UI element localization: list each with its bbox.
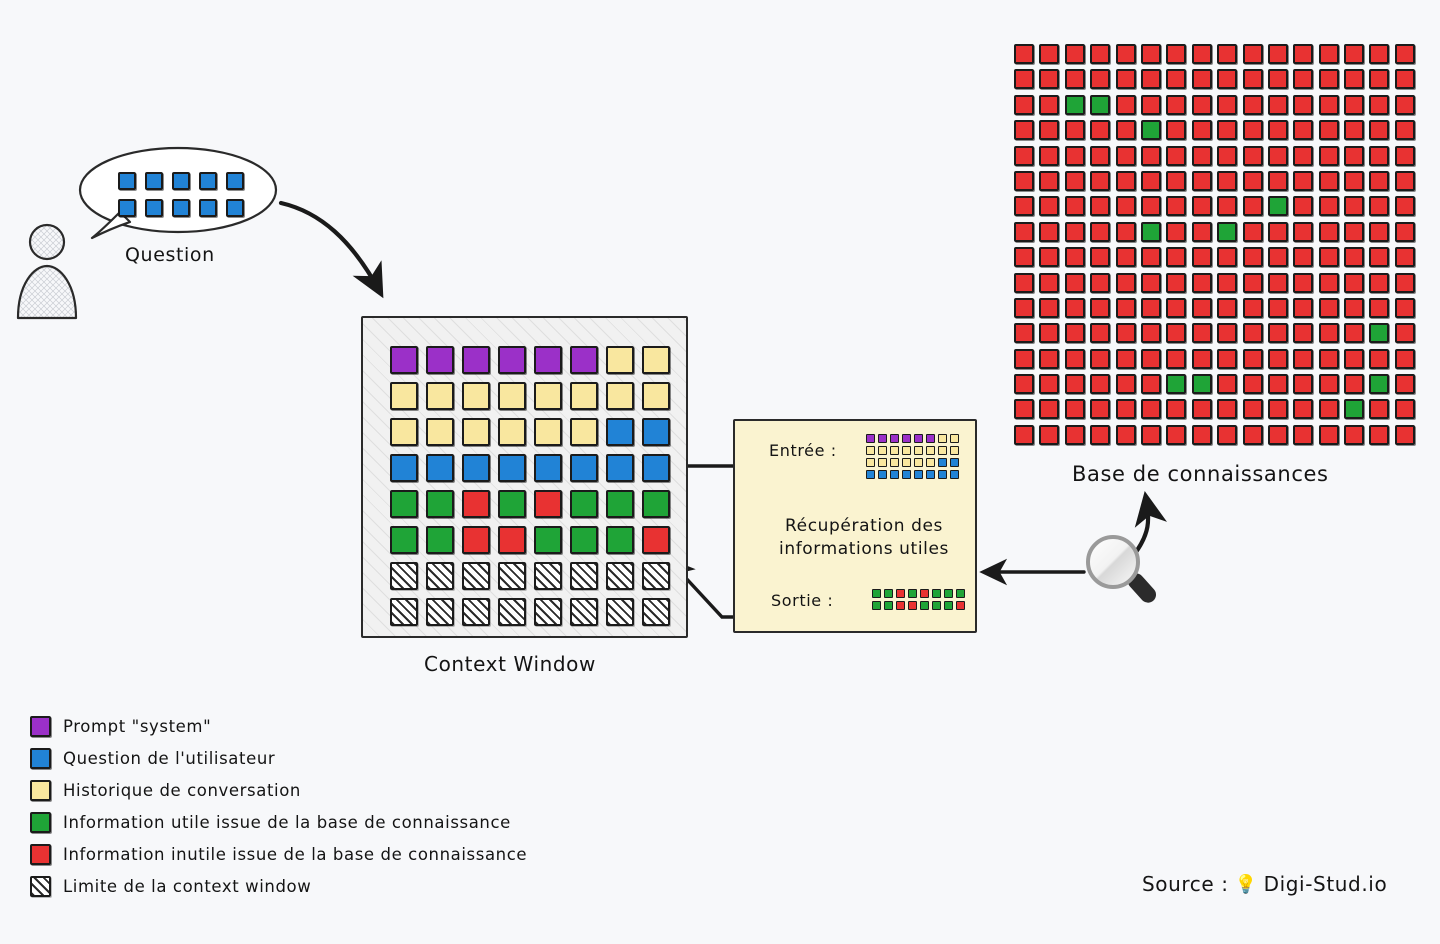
kb-cell-red [1166, 146, 1186, 166]
kb-cell-red [1166, 171, 1186, 191]
kb-cell-red [1369, 425, 1389, 445]
kb-cell-red [1243, 146, 1263, 166]
token-cell-purple [866, 434, 875, 443]
kb-cell-red [1014, 323, 1034, 343]
kb-cell-red [1014, 273, 1034, 293]
kb-cell-red [1293, 196, 1313, 216]
kb-cell-red [1293, 69, 1313, 89]
token-cell-green [932, 601, 941, 610]
token-cell-blue [199, 199, 217, 217]
kb-cell-red [1090, 171, 1110, 191]
kb-cell-red [1192, 69, 1212, 89]
token-cell-red [498, 526, 526, 554]
token-cell-blue [878, 470, 887, 479]
kb-cell-red [1369, 247, 1389, 267]
token-cell-green [426, 526, 454, 554]
legend-label: Limite de la context window [63, 877, 311, 896]
kb-cell-red [1268, 222, 1288, 242]
kb-cell-red [1116, 247, 1136, 267]
kb-cell-red [1243, 69, 1263, 89]
kb-cell-green [1141, 120, 1161, 140]
kb-cell-red [1166, 349, 1186, 369]
kb-cell-red [1369, 95, 1389, 115]
token-cell-blue [118, 172, 136, 190]
legend-label: Information utile issue de la base de co… [63, 813, 511, 832]
legend-swatch-yellow [30, 780, 51, 801]
kb-cell-red [1065, 120, 1085, 140]
token-cell-blue [534, 454, 562, 482]
token-cell-blue [938, 470, 947, 479]
kb-cell-red [1395, 196, 1415, 216]
token-cell-hatch [498, 598, 526, 626]
kb-cell-red [1319, 95, 1339, 115]
kb-cell-red [1014, 171, 1034, 191]
token-cell-hatch [642, 598, 670, 626]
kb-cell-red [1217, 273, 1237, 293]
context-window-box [361, 316, 688, 638]
kb-cell-red [1217, 95, 1237, 115]
token-cell-blue [172, 172, 190, 190]
kb-cell-red [1369, 298, 1389, 318]
token-cell-purple [914, 434, 923, 443]
source-name: Digi-Stud.io [1264, 872, 1388, 896]
kb-cell-red [1065, 298, 1085, 318]
kb-cell-red [1243, 247, 1263, 267]
kb-cell-red [1090, 196, 1110, 216]
legend-swatch-hatch [30, 876, 51, 897]
kb-cell-red [1014, 44, 1034, 64]
token-cell-yellow [950, 446, 959, 455]
token-cell-hatch [534, 562, 562, 590]
kb-cell-red [1116, 95, 1136, 115]
kb-cell-red [1192, 146, 1212, 166]
kb-cell-red [1141, 146, 1161, 166]
kb-cell-red [1268, 146, 1288, 166]
kb-cell-red [1217, 349, 1237, 369]
kb-cell-red [1395, 273, 1415, 293]
token-cell-hatch [426, 562, 454, 590]
kb-cell-red [1065, 273, 1085, 293]
token-cell-purple [878, 434, 887, 443]
kb-cell-red [1369, 399, 1389, 419]
kb-cell-red [1116, 171, 1136, 191]
kb-cell-red [1141, 273, 1161, 293]
kb-cell-red [1090, 425, 1110, 445]
token-cell-green [932, 589, 941, 598]
kb-cell-red [1116, 44, 1136, 64]
kb-cell-red [1141, 298, 1161, 318]
kb-cell-red [1268, 247, 1288, 267]
kb-cell-red [1395, 298, 1415, 318]
legend-label: Prompt "system" [63, 717, 211, 736]
kb-cell-red [1217, 247, 1237, 267]
token-cell-blue [866, 470, 875, 479]
kb-cell-red [1293, 425, 1313, 445]
kb-cell-red [1192, 273, 1212, 293]
token-cell-red [462, 526, 490, 554]
kb-cell-red [1141, 171, 1161, 191]
kb-cell-red [1166, 399, 1186, 419]
token-cell-green [606, 526, 634, 554]
kb-cell-red [1268, 349, 1288, 369]
token-cell-yellow [462, 418, 490, 446]
kb-cell-red [1344, 44, 1364, 64]
token-cell-yellow [878, 446, 887, 455]
kb-cell-red [1090, 69, 1110, 89]
kb-cell-red [1014, 146, 1034, 166]
token-cell-blue [914, 470, 923, 479]
kb-cell-red [1293, 349, 1313, 369]
kb-cell-red [1192, 44, 1212, 64]
token-cell-red [642, 526, 670, 554]
kb-cell-red [1217, 196, 1237, 216]
source-credit: Source : 💡 Digi-Stud.io [1142, 872, 1387, 896]
token-cell-green [884, 589, 893, 598]
kb-cell-red [1319, 374, 1339, 394]
kb-cell-green [1268, 196, 1288, 216]
context-window-label: Context Window [424, 652, 596, 676]
token-cell-green [944, 589, 953, 598]
kb-cell-red [1039, 399, 1059, 419]
token-cell-yellow [498, 382, 526, 410]
kb-cell-red [1039, 171, 1059, 191]
kb-cell-red [1039, 146, 1059, 166]
legend-item: Historique de conversation [30, 780, 527, 801]
kb-cell-red [1141, 425, 1161, 445]
kb-cell-red [1014, 95, 1034, 115]
kb-cell-red [1039, 196, 1059, 216]
kb-cell-red [1243, 425, 1263, 445]
kb-cell-red [1116, 374, 1136, 394]
token-cell-yellow [914, 458, 923, 467]
token-cell-yellow [902, 446, 911, 455]
kb-cell-red [1319, 247, 1339, 267]
kb-cell-red [1217, 298, 1237, 318]
kb-cell-red [1243, 120, 1263, 140]
kb-cell-red [1395, 247, 1415, 267]
kb-cell-red [1217, 69, 1237, 89]
kb-cell-red [1039, 69, 1059, 89]
kb-cell-red [1293, 44, 1313, 64]
kb-cell-red [1065, 171, 1085, 191]
kb-cell-red [1141, 349, 1161, 369]
token-cell-hatch [570, 562, 598, 590]
kb-cell-green [1065, 95, 1085, 115]
note-input-label: Entrée : [769, 441, 837, 460]
kb-cell-green [1369, 323, 1389, 343]
token-cell-purple [390, 346, 418, 374]
kb-cell-red [1369, 146, 1389, 166]
kb-cell-red [1243, 399, 1263, 419]
kb-cell-red [1039, 273, 1059, 293]
kb-cell-red [1192, 95, 1212, 115]
source-prefix: Source : [1142, 872, 1229, 896]
kb-cell-red [1395, 120, 1415, 140]
token-cell-hatch [642, 562, 670, 590]
kb-cell-red [1116, 69, 1136, 89]
token-cell-purple [890, 434, 899, 443]
token-cell-yellow [570, 418, 598, 446]
token-cell-green [426, 490, 454, 518]
kb-cell-green [1166, 374, 1186, 394]
kb-cell-red [1141, 44, 1161, 64]
kb-cell-red [1065, 247, 1085, 267]
kb-cell-red [1243, 196, 1263, 216]
kb-cell-red [1141, 323, 1161, 343]
kb-cell-red [1090, 222, 1110, 242]
legend-item: Limite de la context window [30, 876, 527, 897]
token-cell-purple [902, 434, 911, 443]
token-cell-yellow [938, 434, 947, 443]
kb-cell-red [1344, 69, 1364, 89]
kb-cell-red [1319, 399, 1339, 419]
kb-cell-red [1014, 69, 1034, 89]
kb-cell-red [1065, 69, 1085, 89]
legend-swatch-green [30, 812, 51, 833]
kb-cell-red [1369, 196, 1389, 216]
kb-cell-red [1039, 222, 1059, 242]
kb-cell-red [1014, 298, 1034, 318]
kb-cell-red [1369, 273, 1389, 293]
kb-cell-red [1166, 95, 1186, 115]
token-cell-red [896, 601, 905, 610]
token-cell-green [570, 526, 598, 554]
kb-cell-red [1192, 222, 1212, 242]
kb-cell-red [1090, 273, 1110, 293]
kb-cell-red [1039, 349, 1059, 369]
diagram-canvas: Question Context Window Entrée : Récupér… [0, 0, 1440, 944]
kb-cell-red [1192, 298, 1212, 318]
kb-cell-red [1243, 374, 1263, 394]
legend-label: Historique de conversation [63, 781, 301, 800]
token-cell-blue [426, 454, 454, 482]
kb-cell-red [1090, 247, 1110, 267]
token-cell-red [920, 589, 929, 598]
kb-cell-red [1166, 120, 1186, 140]
kb-cell-red [1039, 374, 1059, 394]
kb-cell-red [1065, 349, 1085, 369]
legend-item: Information inutile issue de la base de … [30, 844, 527, 865]
kb-cell-red [1217, 425, 1237, 445]
token-cell-yellow [606, 346, 634, 374]
token-cell-yellow [390, 382, 418, 410]
kb-cell-red [1014, 399, 1034, 419]
token-cell-purple [534, 346, 562, 374]
token-cell-hatch [390, 562, 418, 590]
kb-cell-red [1319, 425, 1339, 445]
token-cell-hatch [606, 562, 634, 590]
kb-cell-red [1014, 349, 1034, 369]
token-cell-blue [642, 418, 670, 446]
token-cell-green [390, 526, 418, 554]
token-cell-yellow [890, 458, 899, 467]
kb-cell-red [1395, 374, 1415, 394]
legend-swatch-blue [30, 748, 51, 769]
token-cell-purple [462, 346, 490, 374]
kb-cell-red [1268, 171, 1288, 191]
token-cell-blue [902, 470, 911, 479]
kb-cell-red [1319, 349, 1339, 369]
token-cell-yellow [938, 446, 947, 455]
kb-cell-red [1166, 222, 1186, 242]
kb-cell-red [1192, 120, 1212, 140]
token-cell-yellow [606, 382, 634, 410]
kb-cell-red [1039, 120, 1059, 140]
token-cell-yellow [878, 458, 887, 467]
kb-cell-red [1192, 349, 1212, 369]
kb-cell-red [1319, 69, 1339, 89]
token-cell-green [884, 601, 893, 610]
kb-cell-red [1217, 171, 1237, 191]
kb-cell-red [1014, 222, 1034, 242]
kb-cell-red [1116, 222, 1136, 242]
kb-cell-red [1293, 120, 1313, 140]
token-cell-purple [426, 346, 454, 374]
kb-cell-red [1243, 44, 1263, 64]
kb-cell-red [1293, 222, 1313, 242]
kb-cell-red [1141, 247, 1161, 267]
kb-cell-red [1166, 425, 1186, 445]
kb-cell-red [1039, 247, 1059, 267]
kb-cell-red [1319, 323, 1339, 343]
kb-cell-red [1268, 69, 1288, 89]
kb-cell-red [1090, 399, 1110, 419]
token-cell-blue [145, 199, 163, 217]
question-speech-bubble [78, 146, 283, 246]
token-cell-blue [890, 470, 899, 479]
kb-cell-red [1090, 120, 1110, 140]
kb-cell-red [1039, 44, 1059, 64]
magnifying-glass-icon [1080, 525, 1180, 605]
token-cell-green [390, 490, 418, 518]
kb-cell-red [1192, 196, 1212, 216]
kb-cell-red [1344, 374, 1364, 394]
kb-cell-red [1065, 374, 1085, 394]
kb-cell-red [1166, 247, 1186, 267]
kb-cell-red [1090, 146, 1110, 166]
token-cell-yellow [534, 418, 562, 446]
token-cell-blue [950, 470, 959, 479]
kb-cell-red [1192, 171, 1212, 191]
token-cell-blue [938, 458, 947, 467]
token-cell-hatch [462, 562, 490, 590]
token-cell-yellow [642, 382, 670, 410]
kb-cell-red [1090, 298, 1110, 318]
kb-cell-red [1192, 323, 1212, 343]
kb-cell-red [1268, 425, 1288, 445]
legend-item: Information utile issue de la base de co… [30, 812, 527, 833]
kb-cell-red [1319, 222, 1339, 242]
kb-cell-red [1293, 374, 1313, 394]
token-cell-hatch [390, 598, 418, 626]
kb-cell-red [1344, 247, 1364, 267]
kb-cell-red [1395, 146, 1415, 166]
kb-cell-red [1116, 196, 1136, 216]
token-cell-hatch [606, 598, 634, 626]
token-cell-purple [570, 346, 598, 374]
token-cell-hatch [426, 598, 454, 626]
token-cell-blue [145, 172, 163, 190]
kb-cell-red [1116, 425, 1136, 445]
kb-cell-red [1344, 273, 1364, 293]
kb-cell-red [1395, 323, 1415, 343]
kb-cell-red [1166, 196, 1186, 216]
kb-cell-red [1319, 171, 1339, 191]
token-cell-red [956, 601, 965, 610]
token-cell-blue [642, 454, 670, 482]
kb-cell-red [1395, 171, 1415, 191]
token-cell-yellow [950, 434, 959, 443]
kb-cell-red [1395, 69, 1415, 89]
kb-cell-red [1344, 323, 1364, 343]
kb-cell-red [1090, 44, 1110, 64]
kb-cell-red [1243, 95, 1263, 115]
kb-cell-red [1217, 399, 1237, 419]
token-cell-green [908, 589, 917, 598]
kb-cell-red [1344, 298, 1364, 318]
token-cell-red [896, 589, 905, 598]
kb-cell-red [1395, 349, 1415, 369]
kb-cell-green [1369, 374, 1389, 394]
kb-cell-red [1369, 349, 1389, 369]
kb-cell-red [1065, 323, 1085, 343]
token-cell-green [872, 601, 881, 610]
kb-cell-red [1166, 323, 1186, 343]
token-cell-green [534, 526, 562, 554]
kb-cell-red [1319, 273, 1339, 293]
token-cell-green [956, 589, 965, 598]
kb-cell-red [1395, 95, 1415, 115]
knowledge-base-grid [1014, 44, 1415, 445]
note-body-label: Récupération des informations utiles [769, 515, 959, 562]
kb-cell-red [1369, 69, 1389, 89]
token-cell-blue [570, 454, 598, 482]
token-cell-red [908, 601, 917, 610]
token-cell-purple [498, 346, 526, 374]
kb-cell-red [1268, 273, 1288, 293]
token-cell-blue [226, 199, 244, 217]
kb-cell-red [1268, 120, 1288, 140]
token-cell-green [642, 490, 670, 518]
retrieval-note-card: Entrée : Récupération des informations u… [733, 419, 977, 633]
token-cell-blue [950, 458, 959, 467]
token-cell-blue [226, 172, 244, 190]
token-cell-yellow [642, 346, 670, 374]
kb-cell-red [1268, 323, 1288, 343]
kb-cell-red [1268, 44, 1288, 64]
kb-cell-red [1217, 44, 1237, 64]
kb-cell-red [1116, 146, 1136, 166]
kb-cell-red [1268, 374, 1288, 394]
kb-cell-red [1369, 222, 1389, 242]
kb-cell-red [1039, 323, 1059, 343]
kb-cell-red [1141, 399, 1161, 419]
token-cell-yellow [926, 458, 935, 467]
kb-cell-red [1395, 44, 1415, 64]
kb-cell-red [1344, 146, 1364, 166]
token-cell-yellow [914, 446, 923, 455]
kb-cell-red [1014, 120, 1034, 140]
kb-cell-green [1217, 222, 1237, 242]
legend-swatch-purple [30, 716, 51, 737]
token-cell-yellow [498, 418, 526, 446]
kb-cell-green [1141, 222, 1161, 242]
token-cell-green [920, 601, 929, 610]
kb-cell-red [1344, 120, 1364, 140]
kb-cell-red [1014, 425, 1034, 445]
kb-cell-green [1344, 399, 1364, 419]
token-cell-blue [199, 172, 217, 190]
